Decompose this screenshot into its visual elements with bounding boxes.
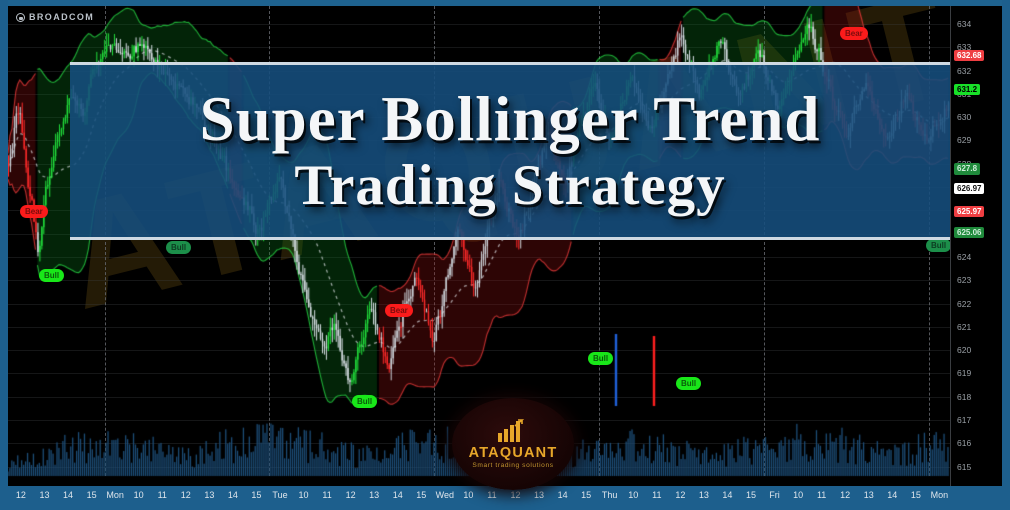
price-badge-basis: 627.8 — [954, 163, 980, 174]
time-tick: 13 — [864, 490, 874, 500]
screenshot-root: ATAQUANT BROADCOM BearBullBullBullBearBu… — [0, 0, 1010, 510]
time-tick: 12 — [840, 490, 850, 500]
time-tick: 11 — [487, 490, 496, 500]
time-tick: 11 — [652, 490, 661, 500]
trade-signal-bear[interactable]: Bear — [385, 304, 413, 317]
banner-title-line1: Super Bollinger Trend — [200, 88, 821, 151]
time-tick: Thu — [602, 490, 618, 500]
time-tick: 10 — [793, 490, 803, 500]
price-tick: 624 — [957, 252, 971, 262]
time-tick: 15 — [251, 490, 261, 500]
trade-signal-bear[interactable]: Bear — [840, 27, 868, 40]
ticker-label[interactable]: BROADCOM — [16, 12, 94, 22]
trade-signal-bull[interactable]: Bull — [676, 377, 701, 390]
time-tick: 15 — [581, 490, 591, 500]
time-tick: 12 — [510, 490, 520, 500]
time-tick: 12 — [16, 490, 26, 500]
time-tick: 11 — [158, 490, 167, 500]
trade-signal-bull[interactable]: Bull — [926, 239, 951, 252]
time-tick: 10 — [134, 490, 144, 500]
trade-signal-bull[interactable]: Bull — [352, 395, 377, 408]
logo-brand-name: ATAQUANT — [469, 445, 558, 461]
price-axis[interactable]: 6346336326316306296286276266256246236226… — [950, 6, 1002, 486]
time-tick: 10 — [628, 490, 638, 500]
time-tick: 12 — [675, 490, 685, 500]
price-tick: 623 — [957, 275, 971, 285]
broadcom-logo-icon — [16, 13, 25, 22]
banner-title-line2: Trading Strategy — [294, 157, 725, 214]
time-tick: 11 — [817, 490, 826, 500]
time-tick: 10 — [463, 490, 473, 500]
trade-signal-bull[interactable]: Bull — [588, 352, 613, 365]
window-frame-left — [0, 0, 8, 510]
price-tick: 618 — [957, 392, 971, 402]
time-tick: 14 — [887, 490, 897, 500]
trade-signal-bull[interactable]: Bull — [39, 269, 64, 282]
price-tick: 616 — [957, 438, 971, 448]
price-badge-lower-band: 625.06 — [954, 227, 984, 238]
price-tick: 629 — [957, 135, 971, 145]
time-tick: Tue — [272, 490, 287, 500]
trade-signal-bull[interactable]: Bull — [166, 241, 191, 254]
price-tick: 619 — [957, 368, 971, 378]
time-tick: Wed — [436, 490, 454, 500]
time-tick: 12 — [181, 490, 191, 500]
time-tick: 11 — [322, 490, 331, 500]
price-badge-stop: 625.97 — [954, 206, 984, 217]
time-tick: 14 — [558, 490, 568, 500]
time-tick: 13 — [39, 490, 49, 500]
trade-signal-bear[interactable]: Bear — [20, 205, 48, 218]
time-tick: 15 — [416, 490, 426, 500]
price-tick: 634 — [957, 19, 971, 29]
time-tick: 13 — [369, 490, 379, 500]
price-tick: 617 — [957, 415, 971, 425]
price-tick: 615 — [957, 462, 971, 472]
time-tick: 15 — [746, 490, 756, 500]
price-badge-last-price: 631.2 — [954, 84, 980, 95]
price-tick: 632 — [957, 66, 971, 76]
window-frame-right — [1002, 0, 1010, 510]
price-badge-upper-band: 632.68 — [954, 50, 984, 61]
time-tick: 13 — [534, 490, 544, 500]
time-tick: 15 — [911, 490, 921, 500]
price-tick: 630 — [957, 112, 971, 122]
title-banner: Super Bollinger Trend Trading Strategy — [70, 62, 950, 240]
price-tick: 620 — [957, 345, 971, 355]
time-tick: 14 — [63, 490, 73, 500]
time-tick: 10 — [299, 490, 309, 500]
time-tick: 13 — [699, 490, 709, 500]
time-tick: Fri — [769, 490, 780, 500]
time-tick: 15 — [87, 490, 97, 500]
time-tick: 12 — [346, 490, 356, 500]
price-tick: 621 — [957, 322, 971, 332]
time-tick: 14 — [393, 490, 403, 500]
time-tick: 13 — [204, 490, 214, 500]
price-badge-close: 626.97 — [954, 183, 984, 194]
ticker-name: BROADCOM — [29, 12, 94, 22]
logo-tagline: Smart trading solutions — [472, 462, 553, 469]
price-tick: 622 — [957, 299, 971, 309]
bar-chart-arrow-icon — [496, 419, 530, 443]
time-tick: Mon — [106, 490, 124, 500]
ataquant-logo-badge: ATAQUANT Smart trading solutions — [452, 398, 574, 490]
time-tick: 14 — [722, 490, 732, 500]
time-tick: Mon — [931, 490, 949, 500]
time-tick: 14 — [228, 490, 238, 500]
